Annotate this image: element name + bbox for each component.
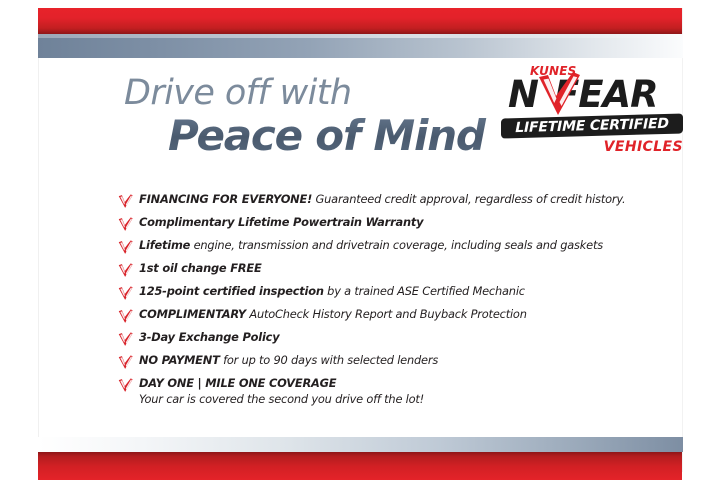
benefit-item: Lifetime engine, transmission and drivet… — [118, 238, 638, 256]
benefit-detail: for up to 90 days with selected lenders — [220, 353, 438, 367]
benefit-headline: NO PAYMENT — [139, 353, 220, 367]
benefit-item: NO PAYMENT for up to 90 days with select… — [118, 353, 638, 371]
logo-letter-n: N — [508, 73, 537, 116]
promotional-banner: Drive off with Peace of Mind KUNES NFEAR… — [0, 0, 720, 480]
benefit-detail: by a trained ASE Certified Mechanic — [324, 284, 525, 298]
benefit-headline: 1st oil change FREE — [139, 261, 262, 275]
benefit-text: Complimentary Lifetime Powertrain Warran… — [139, 215, 423, 230]
red-check-icon — [118, 309, 133, 324]
benefit-text: 125-point certified inspection by a trai… — [139, 284, 525, 299]
benefit-item: 1st oil change FREE — [118, 261, 638, 279]
headline-line-1: Drive off with — [124, 76, 504, 111]
benefit-item: FINANCING FOR EVERYONE! Guaranteed credi… — [118, 192, 638, 210]
headline-line-2: Peace of Mind — [168, 115, 504, 157]
red-check-icon — [118, 217, 133, 232]
red-check-icon — [118, 355, 133, 370]
top-red-band — [38, 8, 682, 34]
benefit-text: 1st oil change FREE — [139, 261, 262, 276]
benefit-text: Lifetime engine, transmission and drivet… — [139, 238, 603, 253]
red-check-icon — [118, 332, 133, 347]
logo-certified-banner-text: LIFETIME CERTIFIED — [501, 113, 683, 138]
benefit-headline: FINANCING FOR EVERYONE! — [139, 192, 312, 206]
benefit-text: FINANCING FOR EVERYONE! Guaranteed credi… — [139, 192, 625, 207]
benefit-detail: Guaranteed credit approval, regardless o… — [312, 192, 625, 206]
benefit-item: COMPLIMENTARY AutoCheck History Report a… — [118, 307, 638, 325]
benefit-item: 3-Day Exchange Policy — [118, 330, 638, 348]
bottom-red-band — [38, 452, 682, 480]
benefit-item: Complimentary Lifetime Powertrain Warran… — [118, 215, 638, 233]
benefit-item: 125-point certified inspection by a trai… — [118, 284, 638, 302]
red-check-icon — [118, 378, 133, 393]
logo-vehicles-label: VEHICLES — [604, 139, 683, 155]
benefit-detail: engine, transmission and drivetrain cove… — [190, 238, 603, 252]
benefit-text: COMPLIMENTARY AutoCheck History Report a… — [139, 307, 527, 322]
benefit-headline: Lifetime — [139, 238, 190, 252]
red-check-icon — [118, 286, 133, 301]
benefit-text: NO PAYMENT for up to 90 days with select… — [139, 353, 438, 368]
logo-certified-banner: LIFETIME CERTIFIED — [501, 113, 683, 138]
benefit-subtext: Your car is covered the second you drive… — [139, 392, 424, 407]
red-check-icon — [118, 240, 133, 255]
benefit-text: DAY ONE | MILE ONE COVERAGEYour car is c… — [139, 376, 424, 407]
benefit-detail: AutoCheck History Report and Buyback Pro… — [246, 307, 527, 321]
red-check-icon — [118, 263, 133, 278]
logo-wordmark: NFEAR — [508, 76, 658, 113]
headline-block: Drive off with Peace of Mind — [124, 76, 504, 157]
red-check-icon — [118, 194, 133, 209]
top-band-highlight — [38, 34, 683, 38]
benefit-headline: 3-Day Exchange Policy — [139, 330, 279, 344]
check-heart-icon — [535, 72, 581, 118]
benefit-headline: 125-point certified inspection — [139, 284, 324, 298]
benefit-item: DAY ONE | MILE ONE COVERAGEYour car is c… — [118, 376, 638, 407]
benefits-list: FINANCING FOR EVERYONE! Guaranteed credi… — [118, 192, 638, 412]
benefit-headline: Complimentary Lifetime Powertrain Warran… — [139, 215, 423, 229]
benefit-text: 3-Day Exchange Policy — [139, 330, 279, 345]
benefit-headline: COMPLIMENTARY — [139, 307, 246, 321]
benefit-headline: DAY ONE | MILE ONE COVERAGE — [139, 376, 336, 390]
kunes-no-fear-logo: KUNES NFEAR LIFETIME CERTIFIED VEHICLES — [499, 64, 685, 156]
bottom-gray-gradient-band — [38, 437, 683, 452]
